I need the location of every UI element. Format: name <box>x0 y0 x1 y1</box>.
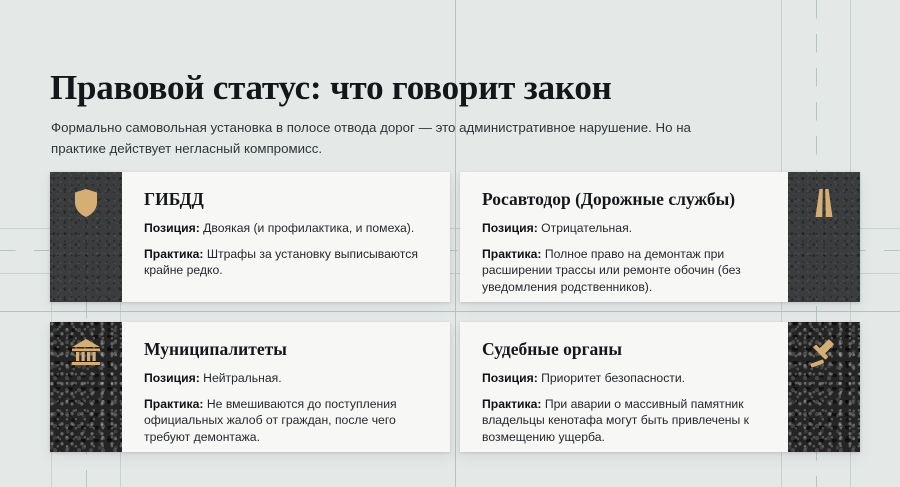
card-gibdd[interactable]: ГИБДД Позиция: Двоякая (и профилактика, … <box>50 172 450 302</box>
card-icon-panel <box>50 322 122 452</box>
card-title: Муниципалитеты <box>144 339 430 359</box>
card-municipalities[interactable]: Муниципалитеты Позиция: Нейтральная. Пра… <box>50 322 450 452</box>
position-label: Позиция: <box>482 221 538 235</box>
card-icon-panel <box>788 172 860 302</box>
page-subtitle: Формально самовольная установка в полосе… <box>51 117 691 159</box>
card-position-line: Позиция: Нейтральная. <box>144 370 430 387</box>
page-title: Правовой статус: что говорит закон <box>50 67 612 109</box>
card-body: Муниципалитеты Позиция: Нейтральная. Пра… <box>122 322 450 452</box>
accent-rule-horizontal <box>0 311 900 312</box>
card-rosavtodor[interactable]: Росавтодор (Дорожные службы) Позиция: От… <box>460 172 860 302</box>
card-icon-panel <box>788 322 860 452</box>
bank-icon <box>71 338 101 366</box>
card-position-line: Позиция: Отрицательная. <box>482 220 768 237</box>
card-body: Судебные органы Позиция: Приоритет безоп… <box>460 322 788 452</box>
card-title: Судебные органы <box>482 339 768 359</box>
practice-label: Практика: <box>144 247 203 261</box>
card-courts[interactable]: Судебные органы Позиция: Приоритет безоп… <box>460 322 860 452</box>
practice-label: Практика: <box>482 247 541 261</box>
card-practice-line: Практика: При аварии о массивный памятни… <box>482 396 768 446</box>
position-label: Позиция: <box>144 221 200 235</box>
card-position-line: Позиция: Двоякая (и профилактика, и поме… <box>144 220 430 237</box>
position-label: Позиция: <box>482 371 538 385</box>
gavel-icon <box>809 338 839 368</box>
position-value: Двоякая (и профилактика, и помеха). <box>203 221 414 235</box>
position-value: Нейтральная. <box>203 371 281 385</box>
road-icon <box>810 188 838 218</box>
practice-label: Практика: <box>482 397 541 411</box>
position-label: Позиция: <box>144 371 200 385</box>
card-title: ГИБДД <box>144 189 430 209</box>
position-value: Приоритет безопасности. <box>541 371 685 385</box>
card-practice-line: Практика: Полное право на демонтаж при р… <box>482 246 768 296</box>
card-body: ГИБДД Позиция: Двоякая (и профилактика, … <box>122 172 450 302</box>
card-position-line: Позиция: Приоритет безопасности. <box>482 370 768 387</box>
position-value: Отрицательная. <box>541 221 632 235</box>
card-title: Росавтодор (Дорожные службы) <box>482 189 768 209</box>
card-practice-line: Практика: Штрафы за установку выписывают… <box>144 246 430 279</box>
card-icon-panel <box>50 172 122 302</box>
card-body: Росавтодор (Дорожные службы) Позиция: От… <box>460 172 788 302</box>
practice-label: Практика: <box>144 397 203 411</box>
card-practice-line: Практика: Не вмешиваются до поступления … <box>144 396 430 446</box>
shield-icon <box>73 188 99 218</box>
